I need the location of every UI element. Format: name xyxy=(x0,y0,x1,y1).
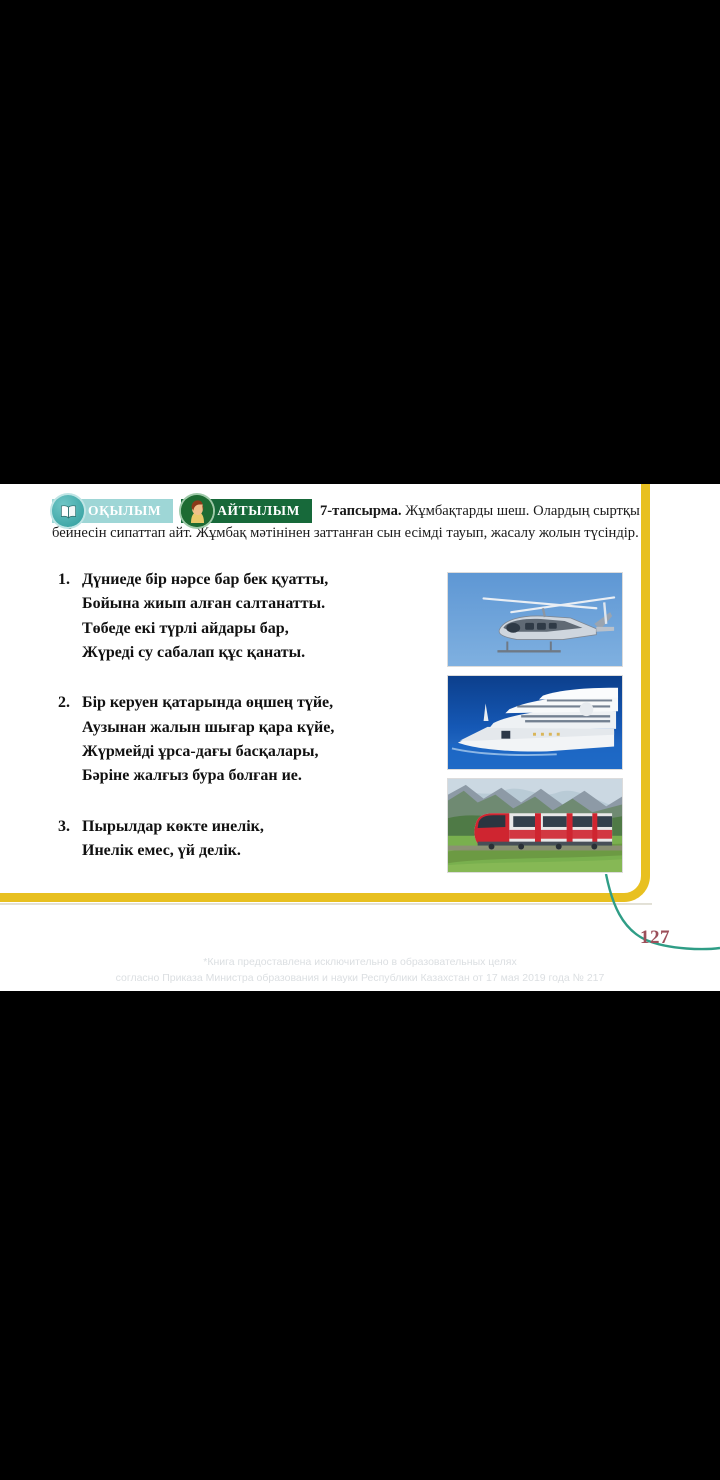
riddle-list: 1. Дүниеде бір нәрсе бар бек қуатты, Бой… xyxy=(58,568,418,889)
watermark-line-1: *Книга предоставлена исключительно в обр… xyxy=(0,954,720,970)
train-photo xyxy=(447,778,623,873)
riddle-number: 3. xyxy=(58,815,82,864)
speaking-person-icon xyxy=(181,495,213,527)
task-header: ОҚЫЛЫМ АЙТЫЛЫМ 7-тапсырма xyxy=(52,499,640,544)
riddle-line: Бір керуен қатарында өңшең түйе, xyxy=(82,691,334,715)
riddle-line: Аузынан жалын шығар қара күйе, xyxy=(82,716,334,740)
riddle-number: 1. xyxy=(58,568,82,665)
riddle-body: Бір керуен қатарында өңшең түйе, Аузынан… xyxy=(82,691,334,788)
riddle-line: Төбеде екі түрлі айдары бар, xyxy=(82,617,328,641)
riddle-line: Пырылдар көкте инелік, xyxy=(82,815,264,839)
watermark-line-2: согласно Приказа Министра образования и … xyxy=(0,970,720,986)
copyright-watermark: *Книга предоставлена исключительно в обр… xyxy=(0,954,720,987)
cruise-ship-photo xyxy=(447,675,623,770)
riddle-line: Жүреді су сабалап құс қанаты. xyxy=(82,641,328,665)
riddle-line: Бойына жиып алған салтанатты. xyxy=(82,592,328,616)
illustration-column xyxy=(447,572,623,881)
textbook-page: ОҚЫЛЫМ АЙТЫЛЫМ 7-тапсырма xyxy=(0,484,720,991)
open-book-icon xyxy=(52,495,84,527)
helicopter-photo xyxy=(447,572,623,667)
riddle-item: 2. Бір керуен қатарында өңшең түйе, Аузы… xyxy=(58,691,418,788)
riddle-line: Жүрмейді ұрса-дағы басқалары, xyxy=(82,740,334,764)
screenshot-root: ОҚЫЛЫМ АЙТЫЛЫМ 7-тапсырма xyxy=(0,0,720,1480)
riddle-line: Дүниеде бір нәрсе бар бек қуатты, xyxy=(82,568,328,592)
riddle-number: 2. xyxy=(58,691,82,788)
skill-badges: ОҚЫЛЫМ АЙТЫЛЫМ xyxy=(52,502,320,519)
riddle-item: 1. Дүниеде бір нәрсе бар бек қуатты, Бой… xyxy=(58,568,418,665)
badge-aitylym[interactable]: АЙТЫЛЫМ xyxy=(181,499,312,523)
riddle-line: Инелік емес, үй делік. xyxy=(82,839,264,863)
riddle-line: Бәріне жалғыз бура болған ие. xyxy=(82,764,334,788)
task-number: 7-тапсырма. xyxy=(320,503,402,519)
badge-okylym[interactable]: ОҚЫЛЫМ xyxy=(52,499,173,523)
page-number: 127 xyxy=(640,927,670,949)
riddle-body: Дүниеде бір нәрсе бар бек қуатты, Бойына… xyxy=(82,568,328,665)
riddle-item: 3. Пырылдар көкте инелік, Инелік емес, ү… xyxy=(58,815,418,864)
riddle-body: Пырылдар көкте инелік, Инелік емес, үй д… xyxy=(82,815,264,864)
